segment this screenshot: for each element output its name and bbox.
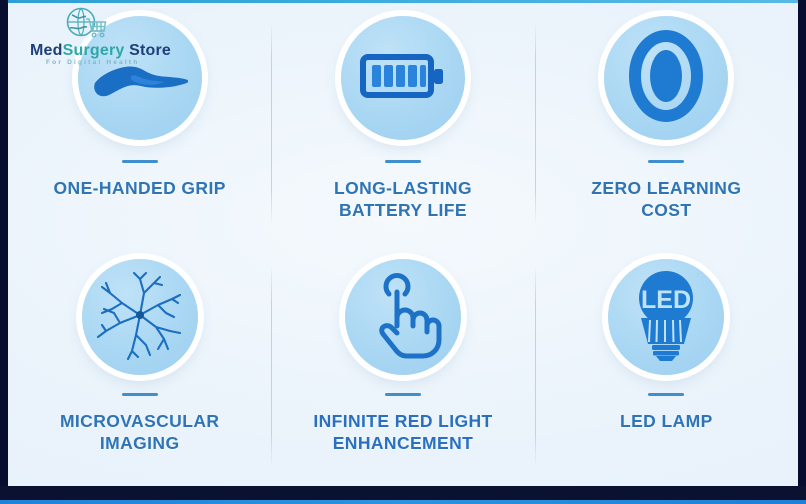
icon-badge — [345, 259, 461, 375]
icon-badge: LED — [608, 259, 724, 375]
icon-badge — [604, 16, 728, 140]
bottom-accent-rule — [0, 500, 806, 504]
feature-label: LONG-LASTING BATTERY LIFE — [334, 177, 472, 222]
feature-cell-one-handed-grip[interactable]: ONE-HANDED GRIP — [8, 0, 271, 243]
feature-label: ZERO LEARNING COST — [591, 177, 741, 222]
feature-cell-red-light-enhancement[interactable]: INFINITE RED LIGHT ENHANCEMENT — [271, 243, 534, 486]
feature-label: INFINITE RED LIGHT ENHANCEMENT — [313, 410, 492, 455]
led-icon-text: LED — [641, 286, 691, 314]
image-frame: ONE-HANDED GRIP — [0, 0, 806, 504]
feature-grid: ONE-HANDED GRIP — [8, 0, 798, 486]
label-divider — [385, 393, 421, 396]
label-divider — [122, 393, 158, 396]
vascular-network-icon — [92, 269, 188, 366]
zero-digit-icon — [623, 30, 709, 127]
label-divider — [648, 393, 684, 396]
feature-cell-zero-learning-cost[interactable]: ZERO LEARNING COST — [535, 0, 798, 243]
label-divider — [122, 160, 158, 163]
feature-label: ONE-HANDED GRIP — [54, 177, 226, 199]
feature-panel: ONE-HANDED GRIP — [8, 0, 798, 486]
icon-badge — [82, 259, 198, 375]
feature-label: LED LAMP — [620, 410, 713, 432]
open-hand-icon — [92, 47, 188, 110]
icon-badge — [78, 16, 202, 140]
label-divider — [385, 160, 421, 163]
led-bulb-icon: LED — [624, 268, 708, 367]
feature-cell-battery-life[interactable]: LONG-LASTING BATTERY LIFE — [271, 0, 534, 243]
icon-badge — [341, 16, 465, 140]
feature-cell-microvascular-imaging[interactable]: MICROVASCULAR IMAGING — [8, 243, 271, 486]
hand-tap-gesture-icon — [363, 270, 443, 365]
battery-full-icon — [360, 48, 446, 109]
feature-cell-led-lamp[interactable]: LED LED LAMP — [535, 243, 798, 486]
feature-label: MICROVASCULAR IMAGING — [60, 410, 219, 455]
label-divider — [648, 160, 684, 163]
